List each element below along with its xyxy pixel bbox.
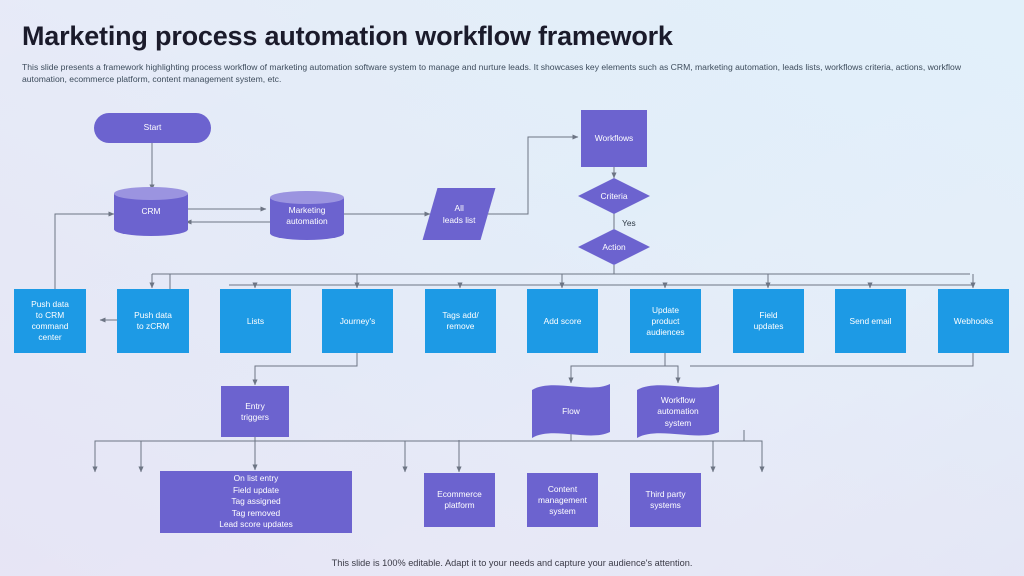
node-workflow-automation-system-label: Workflow automation system <box>637 384 719 440</box>
node-third-party-systems[interactable]: Third party systems <box>630 473 701 527</box>
node-action-label: Action <box>578 229 650 265</box>
node-journeys[interactable]: Journey's <box>322 289 393 353</box>
node-workflows[interactable]: Workflows <box>581 110 647 167</box>
node-tags-add-remove[interactable]: Tags add/ remove <box>425 289 496 353</box>
node-start[interactable]: Start <box>94 113 211 143</box>
node-flow-label: Flow <box>532 384 610 440</box>
node-lists[interactable]: Lists <box>220 289 291 353</box>
node-add-score[interactable]: Add score <box>527 289 598 353</box>
slide-footer: This slide is 100% editable. Adapt it to… <box>0 558 1024 568</box>
node-crm-label: CRM <box>141 206 160 218</box>
node-criteria[interactable]: Criteria <box>578 178 650 214</box>
node-field-updates[interactable]: Field updates <box>733 289 804 353</box>
node-action[interactable]: Action <box>578 229 650 265</box>
node-all-leads-list-label: All leads list <box>443 203 476 226</box>
node-ecommerce-platform[interactable]: Ecommerce platform <box>424 473 495 527</box>
node-update-product-audiences[interactable]: Update product audiences <box>630 289 701 353</box>
node-marketing-automation-label: Marketing automation <box>286 205 327 228</box>
page-subtitle: This slide presents a framework highligh… <box>22 61 1004 86</box>
node-all-leads-list[interactable]: All leads list <box>423 188 496 240</box>
node-webhooks[interactable]: Webhooks <box>938 289 1009 353</box>
cylinder-cap <box>270 191 344 204</box>
slide-canvas: Marketing process automation workflow fr… <box>0 0 1024 576</box>
connector-layer <box>0 0 1024 576</box>
node-criteria-label: Criteria <box>578 178 650 214</box>
cylinder-cap <box>114 187 188 200</box>
page-title: Marketing process automation workflow fr… <box>22 19 922 53</box>
node-content-management-system[interactable]: Content management system <box>527 473 598 527</box>
node-workflow-automation-system[interactable]: Workflow automation system <box>637 384 719 440</box>
edge-label-yes: Yes <box>622 218 636 228</box>
node-send-email[interactable]: Send email <box>835 289 906 353</box>
node-marketing-automation[interactable]: Marketing automation <box>270 192 344 240</box>
node-flow[interactable]: Flow <box>532 384 610 440</box>
node-crm[interactable]: CRM <box>114 188 188 236</box>
node-trigger-list[interactable]: On list entry Field update Tag assigned … <box>160 471 352 533</box>
node-push-data-to-crm-command-center[interactable]: Push data to CRM command center <box>14 289 86 353</box>
node-entry-triggers[interactable]: Entry triggers <box>221 386 289 437</box>
node-push-data-to-zcrm[interactable]: Push data to zCRM <box>117 289 189 353</box>
